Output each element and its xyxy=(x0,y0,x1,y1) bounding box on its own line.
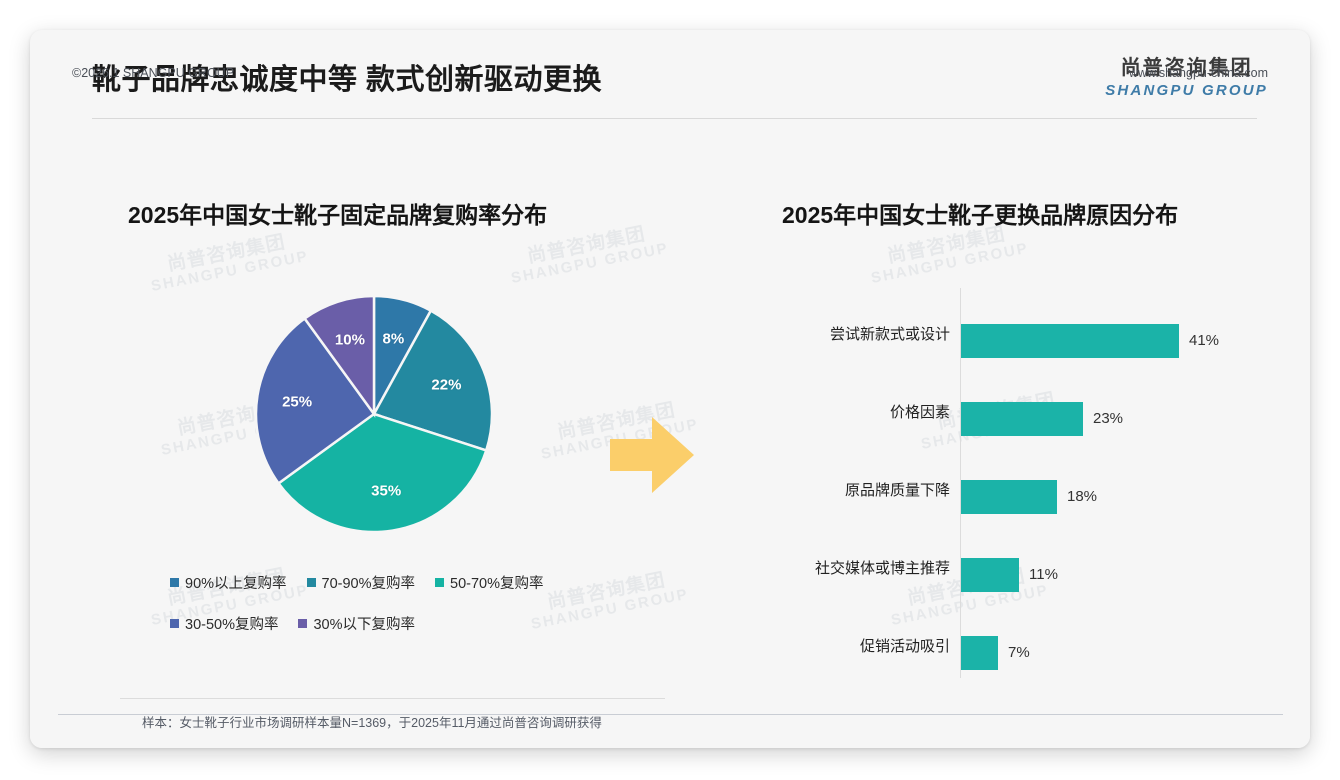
legend-label: 50-70%复购率 xyxy=(450,572,543,593)
legend-label: 70-90%复购率 xyxy=(322,572,415,593)
bar-row: 社交媒体或博主推荐11% xyxy=(782,547,1262,591)
right-chart-panel: 2025年中国女士靴子更换品牌原因分布 xyxy=(782,196,1178,230)
pie-legend: 90%以上复购率 70-90%复购率 50-70%复购率 30-50%复购率 3… xyxy=(170,572,600,654)
logo-english-text: SHANGPU GROUP xyxy=(1105,83,1268,98)
arrow-svg xyxy=(606,412,698,498)
legend-row: 30-50%复购率 30%以下复购率 xyxy=(170,613,600,634)
bar-category-label: 原品牌质量下降 xyxy=(782,469,950,513)
watermark-en: SHANGPU GROUP xyxy=(510,241,670,287)
bar-category-label: 促销活动吸引 xyxy=(782,625,950,669)
website-link[interactable]: www.shangpu-china.com xyxy=(1129,66,1268,80)
watermark-cn: 尚普咨询集团 xyxy=(146,229,307,279)
footnote-divider xyxy=(120,698,665,699)
legend-swatch-icon xyxy=(298,619,307,628)
switch-reason-bar-chart: 尝试新款式或设计41%价格因素23%原品牌质量下降18%社交媒体或博主推荐11%… xyxy=(782,288,1262,678)
slide-card: 尚普咨询集团 SHANGPU GROUP 尚普咨询集团 SHANGPU GROU… xyxy=(30,30,1310,748)
watermark-en: SHANGPU GROUP xyxy=(150,249,310,295)
legend-swatch-icon xyxy=(170,578,179,587)
legend-label: 30%以下复购率 xyxy=(313,613,415,634)
pie-slice-label: 22% xyxy=(431,377,461,394)
header-divider xyxy=(92,118,1257,119)
legend-item[interactable]: 90%以上复购率 xyxy=(170,572,287,593)
bar-rect[interactable] xyxy=(961,402,1083,436)
bar-category-label: 价格因素 xyxy=(782,391,950,435)
watermark: 尚普咨询集团 SHANGPU GROUP xyxy=(866,221,1030,287)
bar-value-label: 11% xyxy=(1029,558,1058,592)
bar-row: 价格因素23% xyxy=(782,391,1262,435)
legend-swatch-icon xyxy=(170,619,179,628)
legend-swatch-icon xyxy=(307,578,316,587)
bar-row: 尝试新款式或设计41% xyxy=(782,313,1262,357)
right-arrow-icon xyxy=(606,412,698,498)
watermark: 尚普咨询集团 SHANGPU GROUP xyxy=(506,221,670,287)
bar-row: 促销活动吸引7% xyxy=(782,625,1262,669)
bar-rect[interactable] xyxy=(961,558,1019,592)
pie-slice-label: 35% xyxy=(371,482,401,499)
legend-item[interactable]: 50-70%复购率 xyxy=(435,572,543,593)
left-chart-title: 2025年中国女士靴子固定品牌复购率分布 xyxy=(128,196,547,230)
bar-rect[interactable] xyxy=(961,324,1179,358)
watermark-en: SHANGPU GROUP xyxy=(870,241,1030,287)
legend-label: 30-50%复购率 xyxy=(185,613,278,634)
watermark: 尚普咨询集团 SHANGPU GROUP xyxy=(146,229,310,295)
legend-swatch-icon xyxy=(435,578,444,587)
bar-value-label: 7% xyxy=(1008,636,1030,670)
legend-label: 90%以上复购率 xyxy=(185,572,287,593)
bar-category-label: 社交媒体或博主推荐 xyxy=(782,547,950,591)
legend-row: 90%以上复购率 70-90%复购率 50-70%复购率 xyxy=(170,572,600,593)
bar-value-label: 23% xyxy=(1093,402,1123,436)
bar-row: 原品牌质量下降18% xyxy=(782,469,1262,513)
pie-slice-label: 8% xyxy=(383,330,405,347)
legend-item[interactable]: 30-50%复购率 xyxy=(170,613,278,634)
sample-footnote: 样本：女士靴子行业市场调研样本量N=1369，于2025年11月通过尚普咨询调研… xyxy=(142,712,602,731)
bar-category-label: 尝试新款式或设计 xyxy=(782,313,950,357)
right-chart-title: 2025年中国女士靴子更换品牌原因分布 xyxy=(782,196,1178,230)
pie-slice-label: 25% xyxy=(282,393,312,410)
pie-slice-label: 10% xyxy=(335,331,365,348)
left-chart-panel: 2025年中国女士靴子固定品牌复购率分布 xyxy=(128,196,547,230)
repurchase-rate-pie-chart: 8%22%35%25%10% xyxy=(252,292,496,536)
bar-value-label: 41% xyxy=(1189,324,1219,358)
bar-rect[interactable] xyxy=(961,636,998,670)
copyright-text: ©2026.1 SHANGPU GROUP xyxy=(72,66,234,80)
bar-rect[interactable] xyxy=(961,480,1057,514)
legend-item[interactable]: 70-90%复购率 xyxy=(307,572,415,593)
bar-value-label: 18% xyxy=(1067,480,1097,514)
legend-item[interactable]: 30%以下复购率 xyxy=(298,613,415,634)
